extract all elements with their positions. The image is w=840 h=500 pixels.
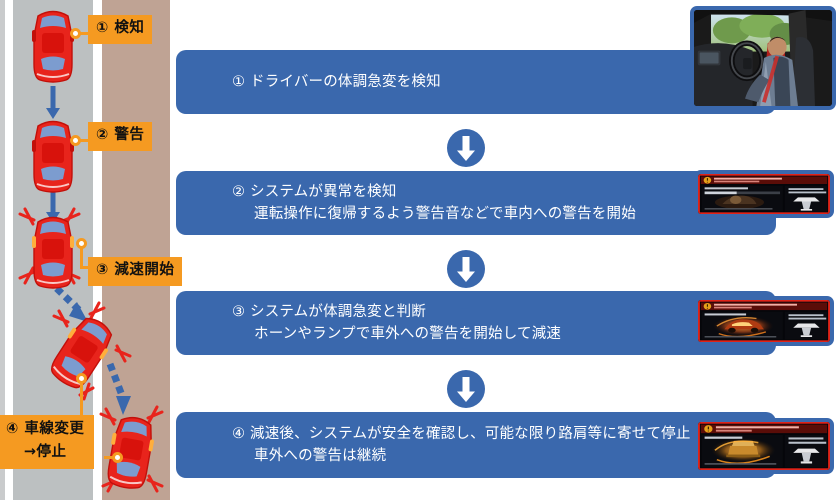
thumbnail-driver-photo (690, 6, 836, 110)
flow-step-4-text: ④ 減速後、システムが安全を確認し、可能な限り路肩等に寄せて停止 車外への警告は… (176, 423, 691, 468)
leader-dot-4 (76, 373, 87, 384)
motion-arrow-1 (45, 86, 61, 120)
leader-dot-3 (76, 238, 87, 249)
flow-step-1-text: ① ドライバーの体調急変を検知 (176, 71, 441, 93)
thumbnail-hmi-display-3 (694, 418, 834, 474)
leader-line-4-v (80, 378, 83, 418)
flow-column: ① ドライバーの体調急変を検知 ② システムが異常を検知 運転操作に復帰するよう… (172, 0, 840, 500)
flow-step-2-text: ② システムが異常を検知 運転操作に復帰するよう警告音などで車内への警告を開始 (176, 181, 636, 226)
flow-step-2: ② システムが異常を検知 運転操作に復帰するよう警告音などで車内への警告を開始 (176, 171, 776, 235)
flow-step-4: ④ 減速後、システムが安全を確認し、可能な限り路肩等に寄せて停止 車外への警告は… (176, 412, 776, 478)
car-top-view-2 (30, 116, 76, 194)
callout-lane-change-line2: →停止 (6, 443, 84, 463)
thumbnail-hmi-display-1 (694, 170, 834, 218)
leader-dot-2 (70, 135, 81, 146)
flow-step-3-line2: ホーンやランプで車外への警告を開始して減速 (232, 323, 561, 345)
car-top-view-3 (30, 212, 76, 290)
flow-step-4-line1: ④ 減速後、システムが安全を確認し、可能な限り路肩等に寄せて停止 (232, 426, 691, 442)
flow-step-3-line1: ③ システムが体調急変と判断 (232, 304, 426, 320)
callout-lane-change-stop: ④ 車線変更 →停止 (0, 415, 94, 469)
flow-step-1: ① ドライバーの体調急変を検知 (176, 50, 776, 114)
hazard-flash-icon (50, 308, 70, 328)
callout-detect: ① 検知 (88, 15, 152, 44)
car-top-view-1 (30, 6, 76, 84)
leader-dot-1 (70, 28, 81, 39)
down-arrow-circle-icon (446, 128, 486, 168)
flow-step-4-line2: 車外への警告は継続 (232, 445, 691, 467)
down-arrow-circle-icon (446, 369, 486, 409)
flow-step-3-text: ③ システムが体調急変と判断 ホーンやランプで車外への警告を開始して減速 (176, 301, 561, 346)
flow-step-2-line1: ② システムが異常を検知 (232, 184, 397, 200)
thumbnail-hmi-display-2 (694, 296, 834, 346)
flow-step-3: ③ システムが体調急変と判断 ホーンやランプで車外への警告を開始して減速 (176, 291, 776, 355)
callout-warn: ② 警告 (88, 122, 152, 151)
diagram-canvas: ① 検知 ② 警告 ③ 減速開始 ④ 車線変更 →停止 ① ドライバーの体調急変… (0, 0, 840, 500)
flow-step-1-line1: ① ドライバーの体調急変を検知 (232, 74, 441, 90)
leader-dot-5 (112, 452, 123, 463)
hazard-flash-icon (114, 344, 134, 364)
callout-lane-change-line1: ④ 車線変更 (6, 421, 84, 437)
callout-decelerate: ③ 減速開始 (88, 257, 182, 286)
flow-step-2-line2: 運転操作に復帰するよう警告音などで車内への警告を開始 (232, 203, 636, 225)
down-arrow-circle-icon (446, 249, 486, 289)
